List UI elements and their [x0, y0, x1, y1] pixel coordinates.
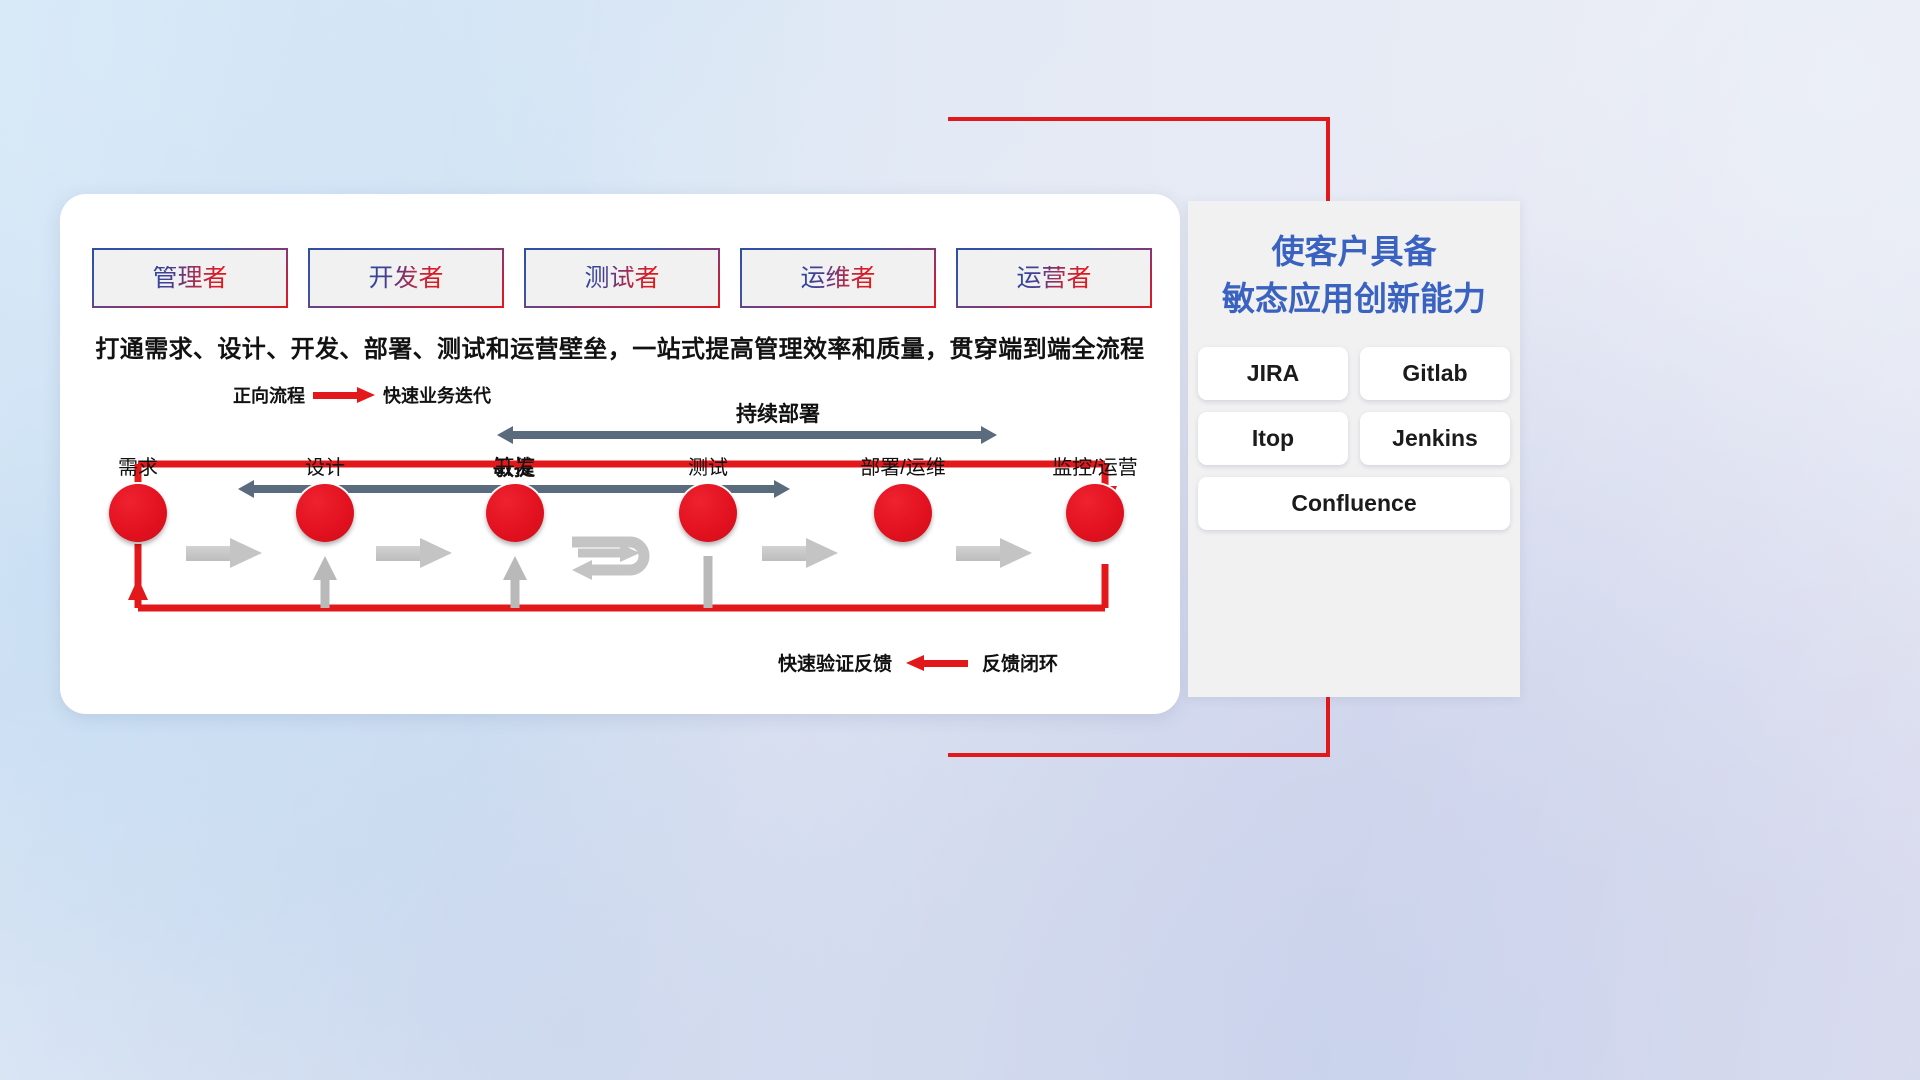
tool-button-grid: JIRA Gitlab Itop Jenkins Confluence — [1188, 347, 1520, 530]
process-node-requirement[interactable]: 需求 — [103, 484, 173, 542]
node-dot-icon — [296, 484, 354, 542]
panel-title-line1: 使客户具备 — [1188, 229, 1520, 276]
tool-button-jira[interactable]: JIRA — [1198, 347, 1348, 400]
node-dot-icon — [486, 484, 544, 542]
node-label: 部署/运维 — [860, 451, 946, 480]
feedback-loop-legend: 快速验证反馈 反馈闭环 — [778, 649, 1058, 676]
role-chip-label: 管理者 — [152, 266, 227, 291]
main-process-card: 管理者 开发者 测试者 运维者 运营者 打通需求、设计、开发、部署、测试和运营壁… — [60, 194, 1180, 714]
feedback-result-label: 快速验证反馈 — [778, 649, 892, 676]
node-label: 测试 — [688, 451, 728, 480]
red-left-arrow-icon — [906, 655, 968, 671]
span-arrow-continuous-deployment — [497, 426, 997, 444]
tool-button-confluence[interactable]: Confluence — [1198, 477, 1510, 530]
process-node-design[interactable]: 设计 — [290, 484, 360, 542]
process-node-deploy-ops[interactable]: 部署/运维 — [868, 484, 938, 542]
red-right-arrow-icon — [313, 387, 375, 403]
role-chip-developer[interactable]: 开发者 — [308, 248, 504, 308]
role-chip-operations[interactable]: 运营者 — [956, 248, 1152, 308]
role-chip-ops[interactable]: 运维者 — [740, 248, 936, 308]
tool-button-jenkins[interactable]: Jenkins — [1360, 412, 1510, 465]
description-text: 打通需求、设计、开发、部署、测试和运营壁垒，一站式提高管理效率和质量，贯穿端到端… — [60, 329, 1180, 364]
node-dot-icon — [874, 484, 932, 542]
flow-arrow-icon-2 — [376, 538, 452, 568]
process-node-monitor-operations[interactable]: 监控/运营 — [1060, 484, 1130, 542]
role-chip-tester[interactable]: 测试者 — [524, 248, 720, 308]
iteration-loop-arrow-icon — [568, 528, 666, 584]
node-label: 开发 — [495, 451, 535, 480]
role-chip-label: 运维者 — [800, 266, 875, 291]
role-chip-manager[interactable]: 管理者 — [92, 248, 288, 308]
feedback-loop-label: 反馈闭环 — [982, 649, 1058, 676]
node-dot-icon — [679, 484, 737, 542]
forward-flow-result: 快速业务迭代 — [383, 382, 491, 408]
role-chip-label: 运营者 — [1016, 266, 1091, 291]
panel-title-line2: 敏态应用创新能力 — [1188, 276, 1520, 323]
panel-title: 使客户具备 敏态应用创新能力 — [1188, 201, 1520, 323]
process-node-development[interactable]: 开发 — [480, 484, 550, 542]
role-chip-row: 管理者 开发者 测试者 运维者 运营者 — [92, 248, 1152, 310]
node-label: 监控/运营 — [1052, 451, 1138, 480]
node-dot-icon — [109, 484, 167, 542]
flow-arrow-icon-1 — [186, 538, 262, 568]
tool-button-gitlab[interactable]: Gitlab — [1360, 347, 1510, 400]
node-label: 需求 — [118, 451, 158, 480]
tool-button-itop[interactable]: Itop — [1198, 412, 1348, 465]
process-node-testing[interactable]: 测试 — [673, 484, 743, 542]
role-chip-label: 测试者 — [584, 266, 659, 291]
node-dot-icon — [1066, 484, 1124, 542]
role-chip-label: 开发者 — [368, 266, 443, 291]
node-label: 设计 — [305, 451, 345, 480]
span-label-continuous-deployment: 持续部署 — [560, 398, 996, 428]
flow-arrow-icon-4 — [762, 538, 838, 568]
tools-panel: 使客户具备 敏态应用创新能力 JIRA Gitlab Itop Jenkins … — [1188, 201, 1520, 697]
forward-flow-legend: 正向流程 快速业务迭代 — [233, 382, 491, 408]
flow-arrow-icon-5 — [956, 538, 1032, 568]
forward-flow-label: 正向流程 — [233, 382, 305, 408]
